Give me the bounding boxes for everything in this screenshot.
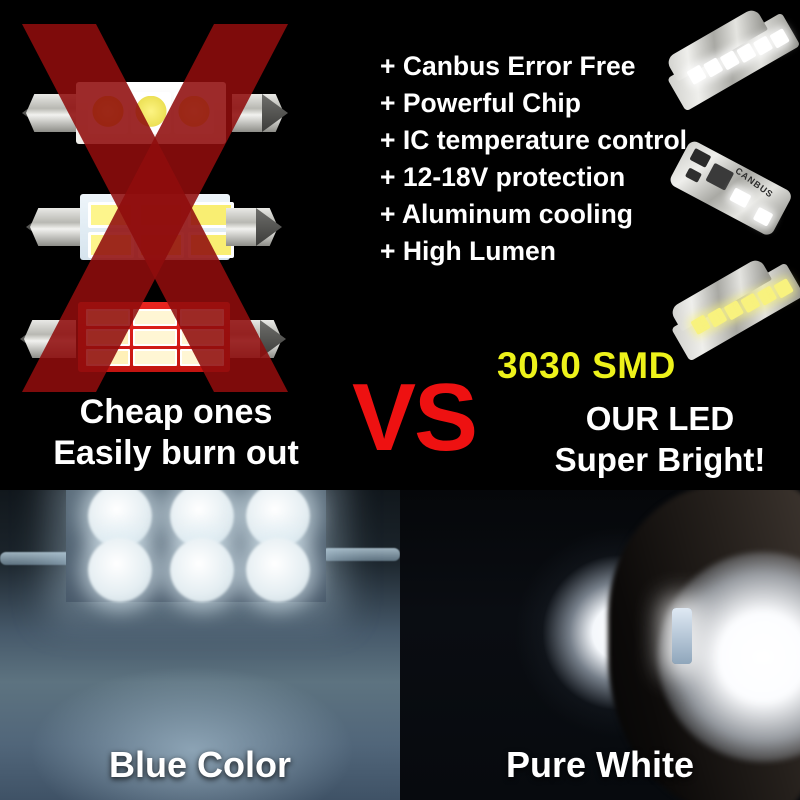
infographic-root: + Canbus Error Free + Powerful Chip + IC… — [0, 0, 800, 800]
t10-pcb-body — [668, 139, 794, 238]
our-led-headline-line1: OUR LED — [520, 398, 800, 439]
lit-smd-dot — [170, 538, 234, 602]
pure-white-caption: Pure White — [400, 744, 800, 786]
feature-item: + Powerful Chip — [380, 85, 700, 122]
lit-smd-dot — [246, 538, 310, 602]
cheap-headline: Cheap ones Easily burn out — [0, 392, 352, 474]
feature-item: + 12-18V protection — [380, 159, 700, 196]
smd-chip-grid — [86, 309, 224, 366]
smd-chip — [131, 92, 171, 134]
smd-chip — [88, 232, 134, 258]
lit-smd-dot — [88, 538, 152, 602]
vs-label: VS — [352, 370, 476, 466]
smd-chip — [180, 309, 224, 326]
smd-chip — [86, 349, 130, 366]
blue-color-photo: Blue Color — [0, 490, 400, 800]
our-led-headline: OUR LED Super Bright! — [520, 398, 800, 480]
blue-color-caption: Blue Color — [0, 744, 400, 786]
smd-chip — [138, 232, 184, 258]
smd-chip-grid — [88, 202, 234, 258]
feature-list: + Canbus Error Free + Powerful Chip + IC… — [380, 48, 700, 270]
cheap-festoon-3-smd — [18, 76, 290, 150]
smd-chip — [138, 202, 184, 228]
top-comparison-section: + Canbus Error Free + Powerful Chip + IC… — [0, 0, 800, 500]
festoon-cap-left-icon — [30, 208, 82, 246]
smd-chip — [86, 309, 130, 326]
smd-chip-grid — [88, 92, 214, 134]
cheap-headline-line2: Easily burn out — [0, 433, 352, 474]
our-led-headline-line2: Super Bright! — [520, 439, 800, 480]
lit-bulb-pcb — [66, 490, 326, 602]
smd-chip — [86, 329, 130, 346]
feature-item: + High Lumen — [380, 233, 700, 270]
festoon-cap-left-icon — [26, 94, 78, 132]
smd-chip — [133, 349, 177, 366]
smd-chip — [174, 92, 214, 134]
smd-chip — [133, 309, 177, 326]
smd-chip — [88, 92, 128, 134]
smd-chip — [180, 329, 224, 346]
pure-white-photo: Pure White — [400, 490, 800, 800]
bottom-photo-section: Blue Color Pure White — [0, 490, 800, 800]
smd-chip — [180, 349, 224, 366]
bulb-rod-right — [322, 548, 400, 561]
lit-bulb-core — [672, 608, 692, 664]
bulb-rod-left — [0, 552, 76, 565]
cheap-headline-line1: Cheap ones — [0, 392, 352, 433]
cheap-festoon-9-smd — [16, 296, 288, 380]
feature-item: + IC temperature control — [380, 122, 700, 159]
festoon-cap-left-icon — [24, 320, 76, 358]
smd-type-label: 3030 SMD — [497, 345, 676, 387]
smd-chip — [133, 329, 177, 346]
cheap-festoon-6-smd — [22, 186, 284, 266]
smd-chip — [88, 202, 134, 228]
